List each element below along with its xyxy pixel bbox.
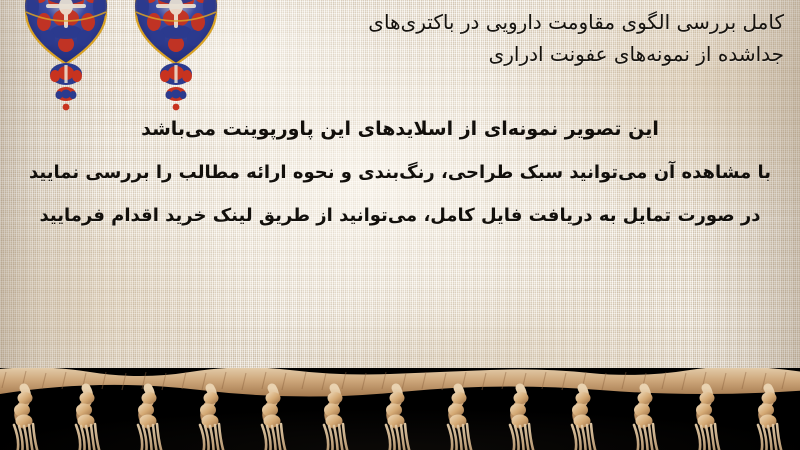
carpet-tassel-fringe — [0, 368, 800, 450]
slide-canvas: کامل بررسی الگوی مقاومت دارویی در باکتری… — [0, 0, 800, 450]
title-line-1: کامل بررسی الگوی مقاومت دارویی در باکتری… — [244, 6, 784, 38]
slide-body: این تصویر نمونه‌ای از اسلایدهای این پاور… — [14, 108, 786, 237]
title-line-2: جداشده از نمونه‌های عفونت ادراری — [244, 38, 784, 70]
slide-title: کامل بررسی الگوی مقاومت دارویی در باکتری… — [244, 6, 784, 70]
body-line-3: در صورت تمایل به دریافت فایل کامل، می‌تو… — [14, 194, 786, 237]
fringe-tassels-graphic — [0, 368, 800, 450]
body-line-2: با مشاهده آن می‌توانید سبک طراحی، رنگ‌بن… — [14, 151, 786, 194]
body-line-1: این تصویر نمونه‌ای از اسلایدهای این پاور… — [14, 108, 786, 151]
